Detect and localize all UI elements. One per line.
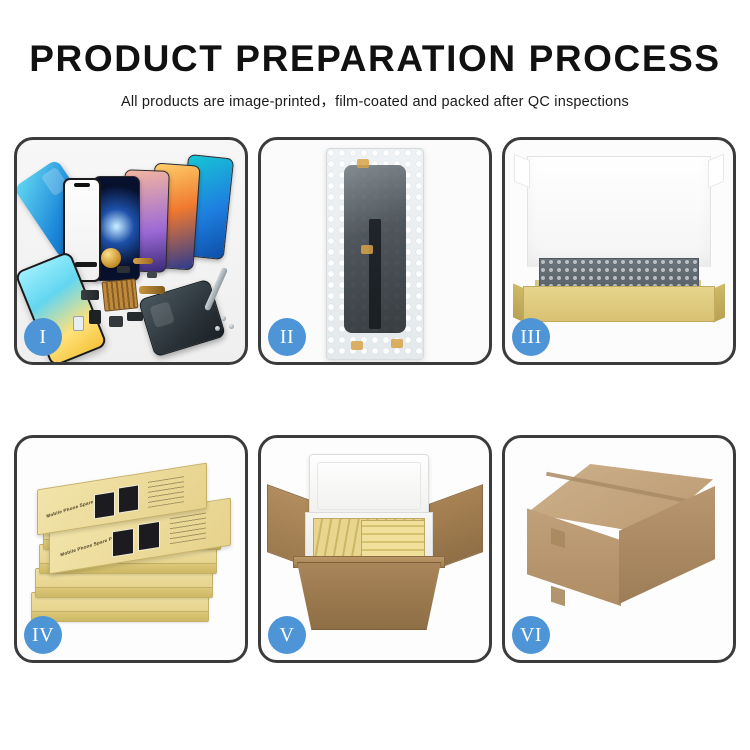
box-stack: Mobile Phone Spare Parts Mobile Phone Sp… (27, 456, 239, 646)
part-bracket (127, 312, 143, 321)
tape-piece (351, 341, 363, 350)
part-gold-flex (133, 258, 153, 264)
box-product-image (138, 521, 160, 551)
step-panel-5: V (258, 435, 492, 663)
step-panel-3: III (502, 137, 736, 365)
step-panel-6: VI (502, 435, 736, 663)
step-badge-4: IV (24, 616, 62, 654)
step-panel-2: II (258, 137, 492, 365)
product-preparation-infographic: PRODUCT PREPARATION PROCESS All products… (0, 0, 750, 750)
screw-icon (221, 316, 226, 321)
bubble-wrap-bag (326, 148, 424, 360)
part-camera (89, 310, 101, 324)
step-badge-5: V (268, 616, 306, 654)
part-connector (81, 290, 99, 300)
screw-icon (229, 324, 234, 329)
packed-retail-boxes-row2 (361, 520, 425, 558)
tape-piece (361, 245, 373, 254)
white-box-lid (527, 156, 711, 267)
step-badge-2: II (268, 318, 306, 356)
part-small-clip (147, 272, 157, 278)
step-badge-6: VI (512, 616, 550, 654)
box-front-panel (523, 286, 715, 322)
part-sim-tray (73, 316, 84, 331)
step-badge-1: I (24, 318, 62, 356)
page-title: PRODUCT PREPARATION PROCESS (0, 40, 750, 79)
box-product-image (94, 491, 115, 519)
part-ic-chip (117, 266, 130, 273)
carton-front-panel (297, 562, 441, 630)
process-steps-grid: I II (14, 137, 736, 692)
speaker-module (101, 248, 121, 268)
foam-lid (309, 454, 429, 518)
step-panel-4: Mobile Phone Spare Parts Mobile Phone Sp… (14, 435, 248, 663)
screw-icon (215, 326, 220, 331)
step-panel-1: I (14, 137, 248, 365)
screen-flex-cable (369, 219, 381, 329)
header: PRODUCT PREPARATION PROCESS All products… (0, 0, 750, 111)
chip-array (102, 278, 139, 311)
carton-tape-lower (551, 586, 565, 607)
part-flex-strip (75, 262, 97, 267)
tape-piece (391, 339, 403, 348)
step-badge-3: III (512, 318, 550, 356)
part-gold-cable (139, 286, 165, 294)
box-spec-lines (148, 476, 184, 508)
box-product-image (118, 484, 139, 513)
notch-icon (74, 183, 90, 187)
box-spec-lines (170, 513, 206, 545)
tape-piece (357, 159, 369, 168)
box-product-image (112, 528, 134, 557)
page-subtitle: All products are image-printed，film-coat… (0, 90, 750, 111)
part-vibrator (109, 316, 123, 327)
